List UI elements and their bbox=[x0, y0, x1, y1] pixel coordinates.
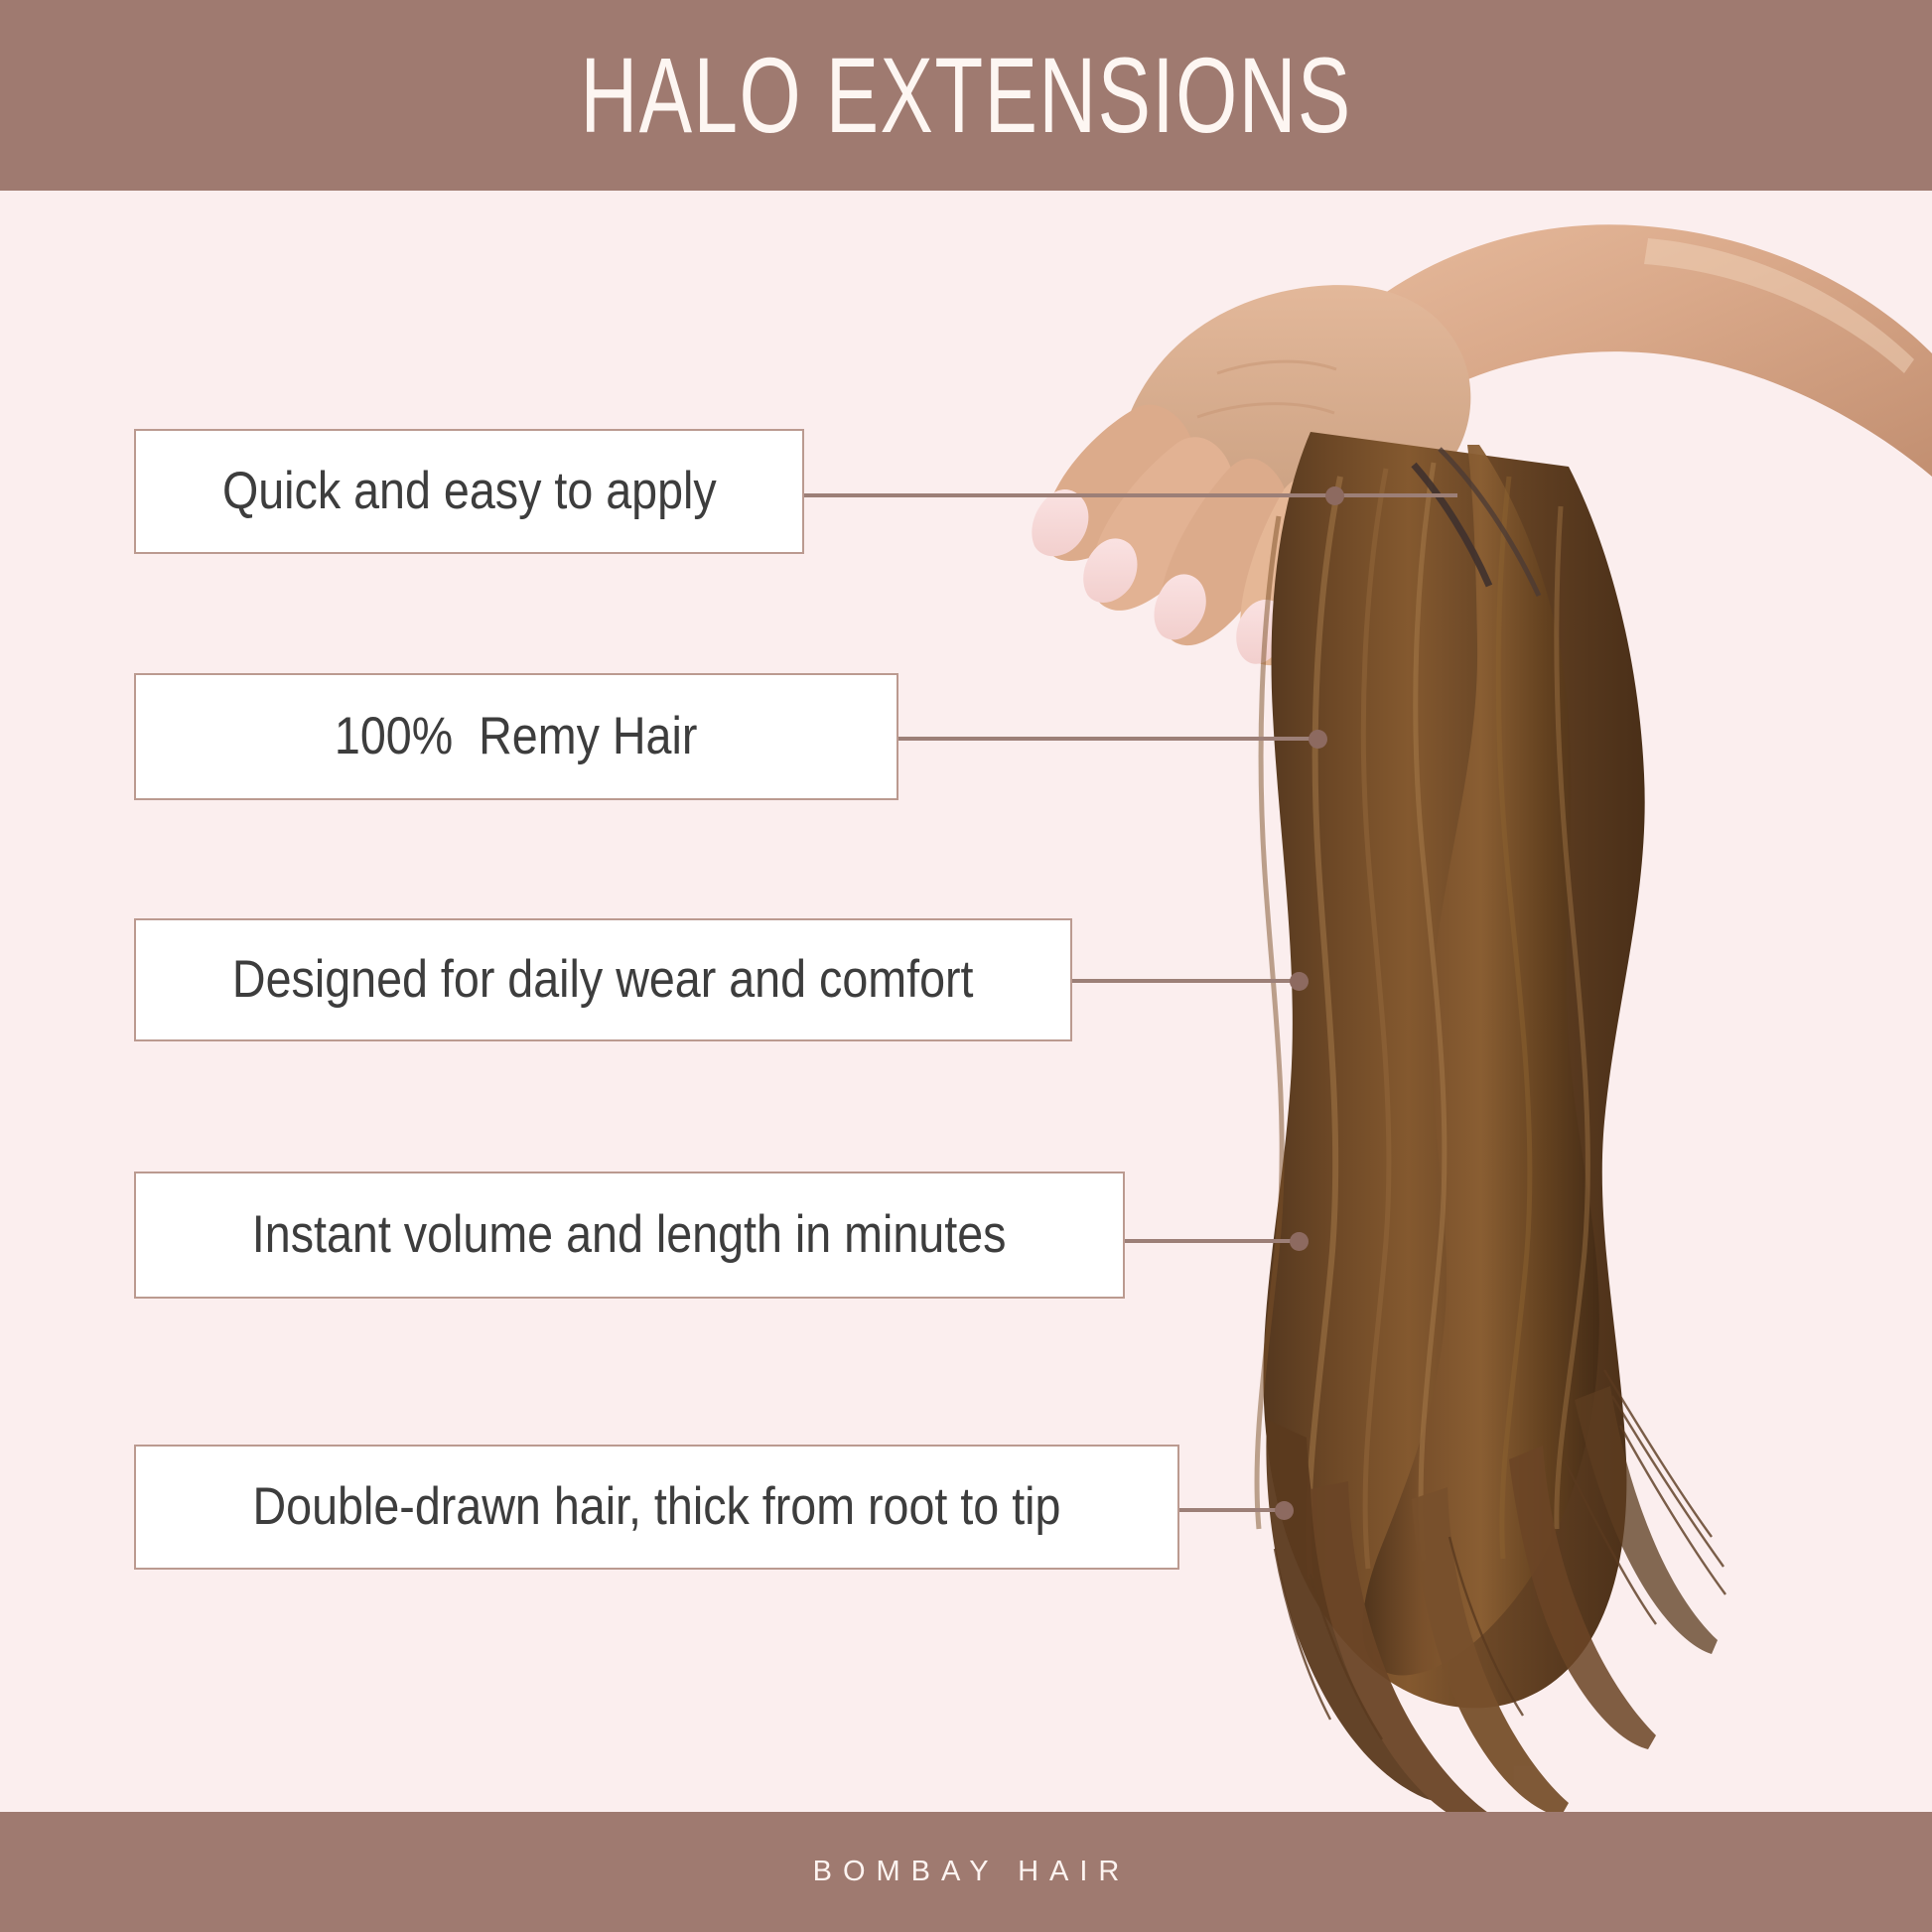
connector-line-3 bbox=[1072, 979, 1299, 983]
forearm bbox=[1317, 224, 1932, 477]
feature-label-3: Designed for daily wear and comfort bbox=[232, 951, 974, 1009]
brand-name: BOMBAY HAIR bbox=[802, 1856, 1131, 1888]
connector-dot-4 bbox=[1290, 1232, 1309, 1251]
feature-item-5: Double-drawn hair, thick from root to ti… bbox=[134, 1445, 1296, 1570]
feature-item-4: Instant volume and length in minutes bbox=[134, 1172, 1311, 1299]
footer-bar: BOMBAY HAIR bbox=[0, 1812, 1932, 1932]
connector-dot-1 bbox=[1325, 486, 1344, 505]
connector-line-5 bbox=[1179, 1508, 1287, 1512]
feature-item-3: Designed for daily wear and comfort bbox=[134, 918, 1311, 1041]
feature-box-2[interactable]: 100% Remy Hair bbox=[134, 673, 898, 800]
feature-item-1: Quick and easy to apply bbox=[134, 429, 1345, 554]
feature-box-5[interactable]: Double-drawn hair, thick from root to ti… bbox=[134, 1445, 1179, 1570]
feature-label-4: Instant volume and length in minutes bbox=[252, 1206, 1007, 1264]
feature-box-3[interactable]: Designed for daily wear and comfort bbox=[134, 918, 1072, 1041]
feature-box-1[interactable]: Quick and easy to apply bbox=[134, 429, 804, 554]
feature-label-1: Quick and easy to apply bbox=[222, 463, 717, 520]
connector-dot-2 bbox=[1309, 730, 1327, 749]
feature-box-4[interactable]: Instant volume and length in minutes bbox=[134, 1172, 1125, 1299]
connector-line-4 bbox=[1125, 1239, 1299, 1243]
infographic-poster: HALO EXTENSIONS Quick and easy to apply … bbox=[0, 0, 1932, 1932]
hair-cascade bbox=[1257, 432, 1725, 1827]
connector-line-2 bbox=[898, 737, 1320, 741]
page-title: HALO EXTENSIONS bbox=[580, 42, 1351, 149]
feature-label-2: 100% Remy Hair bbox=[335, 708, 697, 765]
connector-dot-5 bbox=[1275, 1501, 1294, 1520]
connector-dot-3 bbox=[1290, 972, 1309, 991]
feature-label-5: Double-drawn hair, thick from root to ti… bbox=[253, 1478, 1061, 1536]
feature-item-2: 100% Remy Hair bbox=[134, 673, 1335, 800]
header-bar: HALO EXTENSIONS bbox=[0, 0, 1932, 191]
connector-line-1 bbox=[804, 493, 1457, 497]
